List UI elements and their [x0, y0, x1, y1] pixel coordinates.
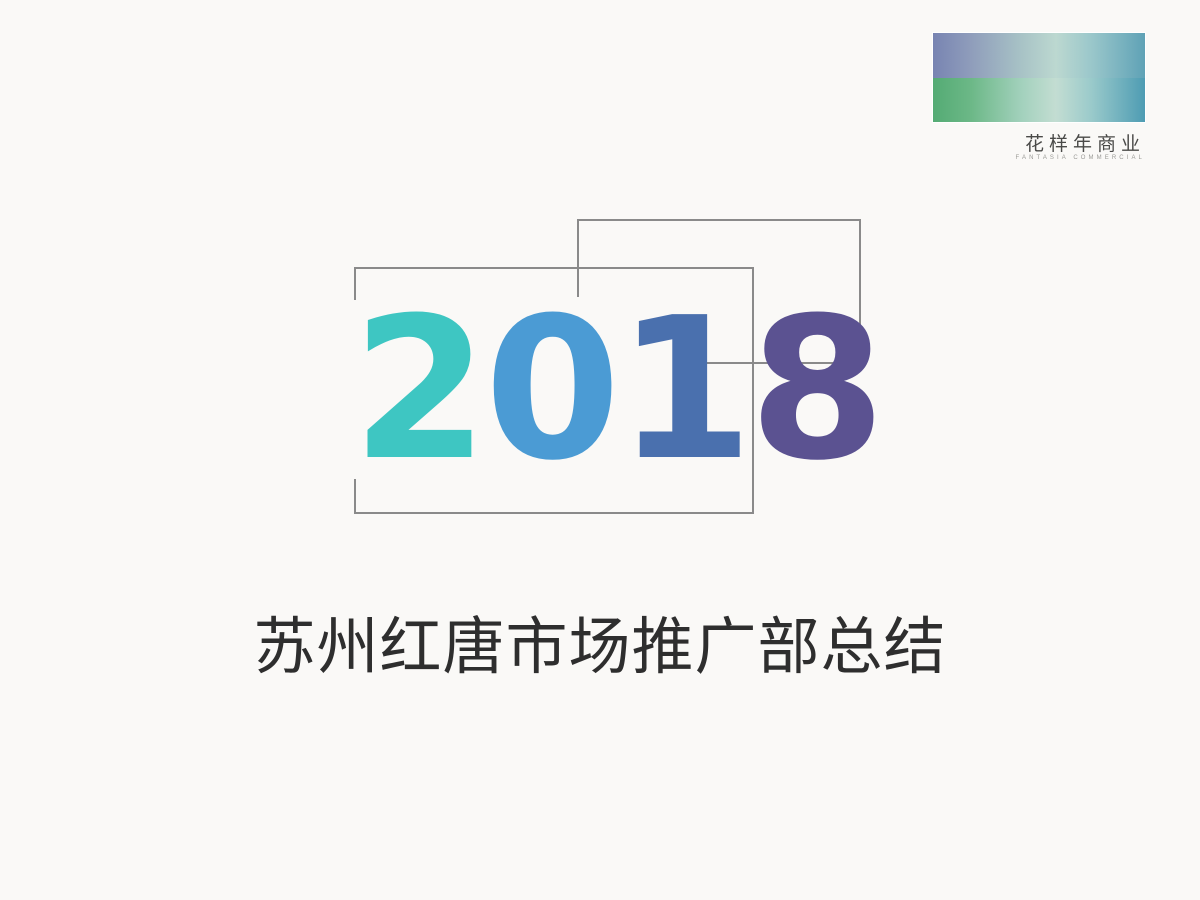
- year-digit-1: 2: [352, 292, 484, 488]
- slide-title: 苏州红唐市场推广部总结: [0, 596, 1200, 686]
- logo-gradient-mark: [933, 33, 1145, 122]
- logo-gradient-bottom-band: [933, 78, 1145, 123]
- logo-name-cn: 花样年商业: [933, 129, 1145, 156]
- year-digit-3: 1: [617, 292, 749, 488]
- logo-gradient-top-band: [933, 33, 1145, 78]
- year-digit-4: 8: [749, 292, 881, 488]
- logo-name-en: FANTASIA COMMERCIAL: [933, 155, 1145, 161]
- year-wordmark: 2018: [352, 292, 882, 488]
- brand-logo: 花样年商业 FANTASIA COMMERCIAL: [933, 33, 1147, 165]
- slide-canvas: 花样年商业 FANTASIA COMMERCIAL 2018 苏州红唐市场推广部…: [0, 0, 1200, 900]
- year-digit-2: 0: [484, 292, 616, 488]
